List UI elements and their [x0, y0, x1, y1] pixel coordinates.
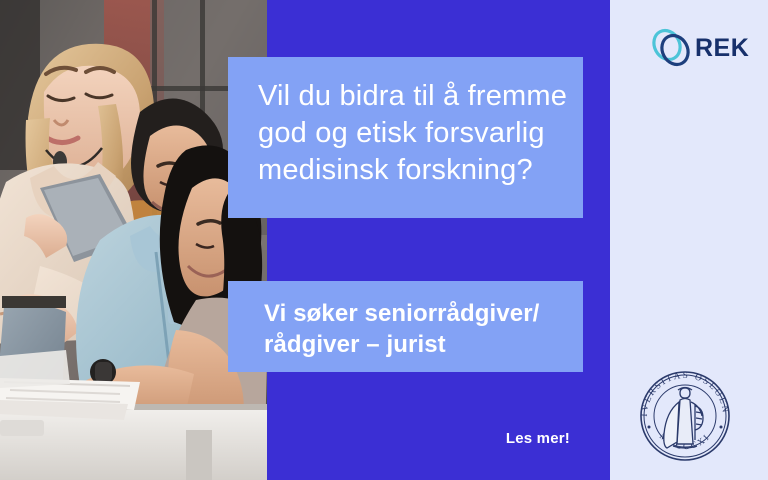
job-title-line-1: Vi søker seniorrådgiver/ — [264, 298, 563, 329]
job-title-line-2: rådgiver – jurist — [264, 329, 563, 360]
headline-line-3: medisinsk forskning? — [258, 152, 557, 189]
headline-line-2: god og etisk forsvarlig — [258, 115, 557, 152]
rek-logo[interactable]: REK — [650, 26, 742, 70]
rek-wordmark: REK — [695, 36, 749, 61]
job-advert-banner: Vil du bidra til å fremme god og etisk f… — [0, 0, 768, 480]
read-more-link[interactable]: Les mer! — [440, 430, 570, 447]
job-title-card: Vi søker seniorrådgiver/ rådgiver – juri… — [228, 281, 583, 372]
headline-card: Vil du bidra til å fremme god og etisk f… — [228, 57, 583, 218]
team-collaboration-photo — [0, 0, 267, 480]
rek-interlocking-rings-icon — [650, 27, 692, 69]
university-of-oslo-seal-icon: UNIVERSITAS OSLOENSIS MDCCCXI — [633, 364, 737, 468]
headline-line-1: Vil du bidra til å fremme — [258, 78, 557, 115]
